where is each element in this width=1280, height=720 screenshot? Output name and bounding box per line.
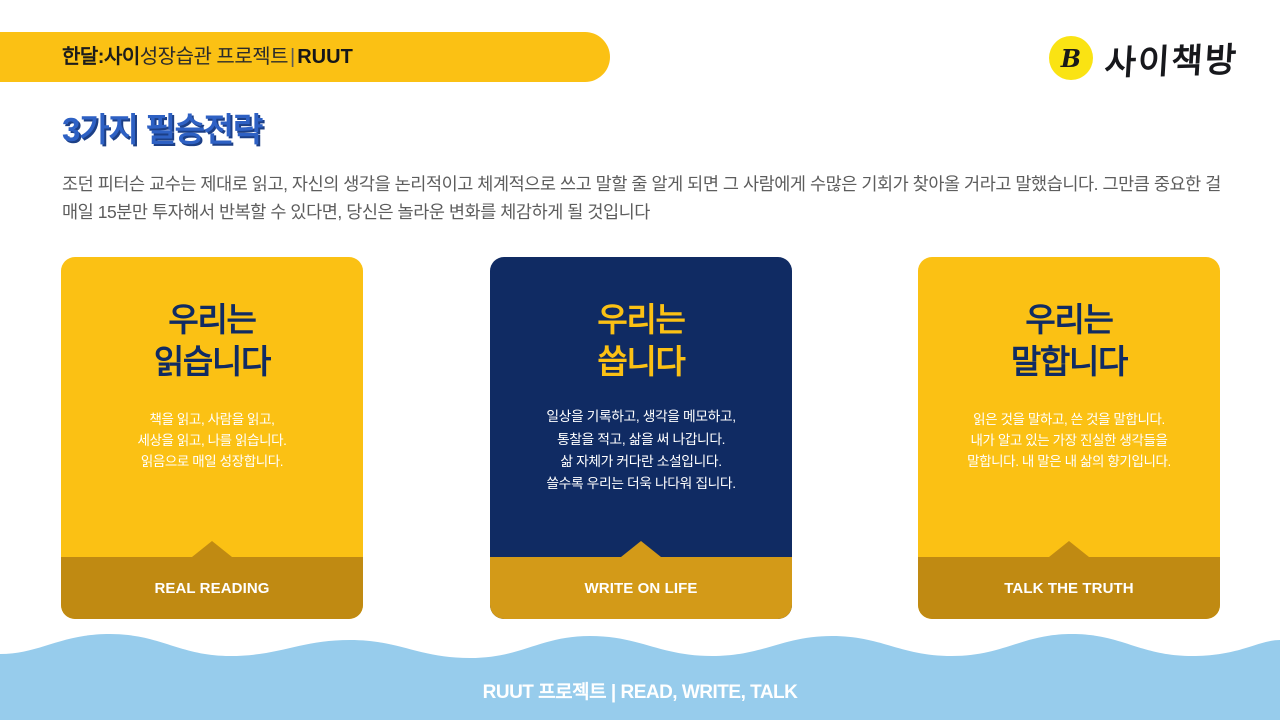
slide-canvas: 한달:사이성장습관 프로젝트|RUUT B 사이책방 3가지 필승전략 조던 피… [0,0,1280,720]
card-heading: 우리는 씁니다 [597,299,684,382]
card-footer-band: WRITE ON LIFE [490,557,792,619]
card-footer-band: REAL READING [61,557,363,619]
banner-strong-text: 한달:사이 [62,46,140,68]
strategy-card-write: 우리는 씁니다 일상을 기록하고, 생각을 메모하고, 통찰을 적고, 삶을 써… [490,257,792,619]
footer-text: RUUT 프로젝트 | READ, WRITE, TALK [0,677,1280,704]
brand-name-text: 사이책방 [1103,32,1239,84]
card-description: 책을 읽고, 사람을 읽고, 세상을 읽고, 나를 읽습니다. 읽음으로 매일 … [124,410,301,473]
card-footer-label: REAL READING [154,580,269,597]
card-body: 우리는 읽습니다 책을 읽고, 사람을 읽고, 세상을 읽고, 나를 읽습니다.… [61,257,363,557]
page-title: 3가지 필승전략 [62,103,262,151]
card-notch-triangle-icon [621,541,661,557]
card-heading: 우리는 읽습니다 [154,299,270,382]
card-footer-band: TALK THE TRUTH [918,557,1220,619]
bottom-wave-decoration [0,624,1280,720]
strategy-card-read: 우리는 읽습니다 책을 읽고, 사람을 읽고, 세상을 읽고, 나를 읽습니다.… [61,257,363,619]
banner-brand-text: RUUT [297,46,353,68]
card-body: 우리는 씁니다 일상을 기록하고, 생각을 메모하고, 통찰을 적고, 삶을 써… [490,257,792,557]
card-notch-triangle-icon [192,541,232,557]
card-description: 읽은 것을 말하고, 쓴 것을 말합니다. 내가 알고 있는 가장 진실한 생각… [953,410,1185,473]
card-heading: 우리는 말합니다 [1011,299,1127,382]
banner-middle-text: 성장습관 프로젝트 [140,46,288,68]
card-notch-triangle-icon [1049,541,1089,557]
card-body: 우리는 말합니다 읽은 것을 말하고, 쓴 것을 말합니다. 내가 알고 있는 … [918,257,1220,557]
header-banner-text: 한달:사이성장습관 프로젝트|RUUT [62,47,353,67]
card-footer-label: TALK THE TRUTH [1004,580,1133,597]
intro-paragraph: 조던 피터슨 교수는 제대로 읽고, 자신의 생각을 논리적이고 체계적으로 쓰… [62,170,1222,227]
brand-circle-b-icon: B [1049,36,1093,80]
brand-logo: B 사이책방 [1049,32,1238,84]
card-description: 일상을 기록하고, 생각을 메모하고, 통찰을 적고, 삶을 써 나갑니다. 삶… [532,406,749,495]
card-footer-label: WRITE ON LIFE [585,580,698,597]
strategy-card-talk: 우리는 말합니다 읽은 것을 말하고, 쓴 것을 말합니다. 내가 알고 있는 … [918,257,1220,619]
strategy-cards-row: 우리는 읽습니다 책을 읽고, 사람을 읽고, 세상을 읽고, 나를 읽습니다.… [0,257,1280,619]
header-banner: 한달:사이성장습관 프로젝트|RUUT [0,32,610,82]
banner-separator: | [288,46,297,68]
